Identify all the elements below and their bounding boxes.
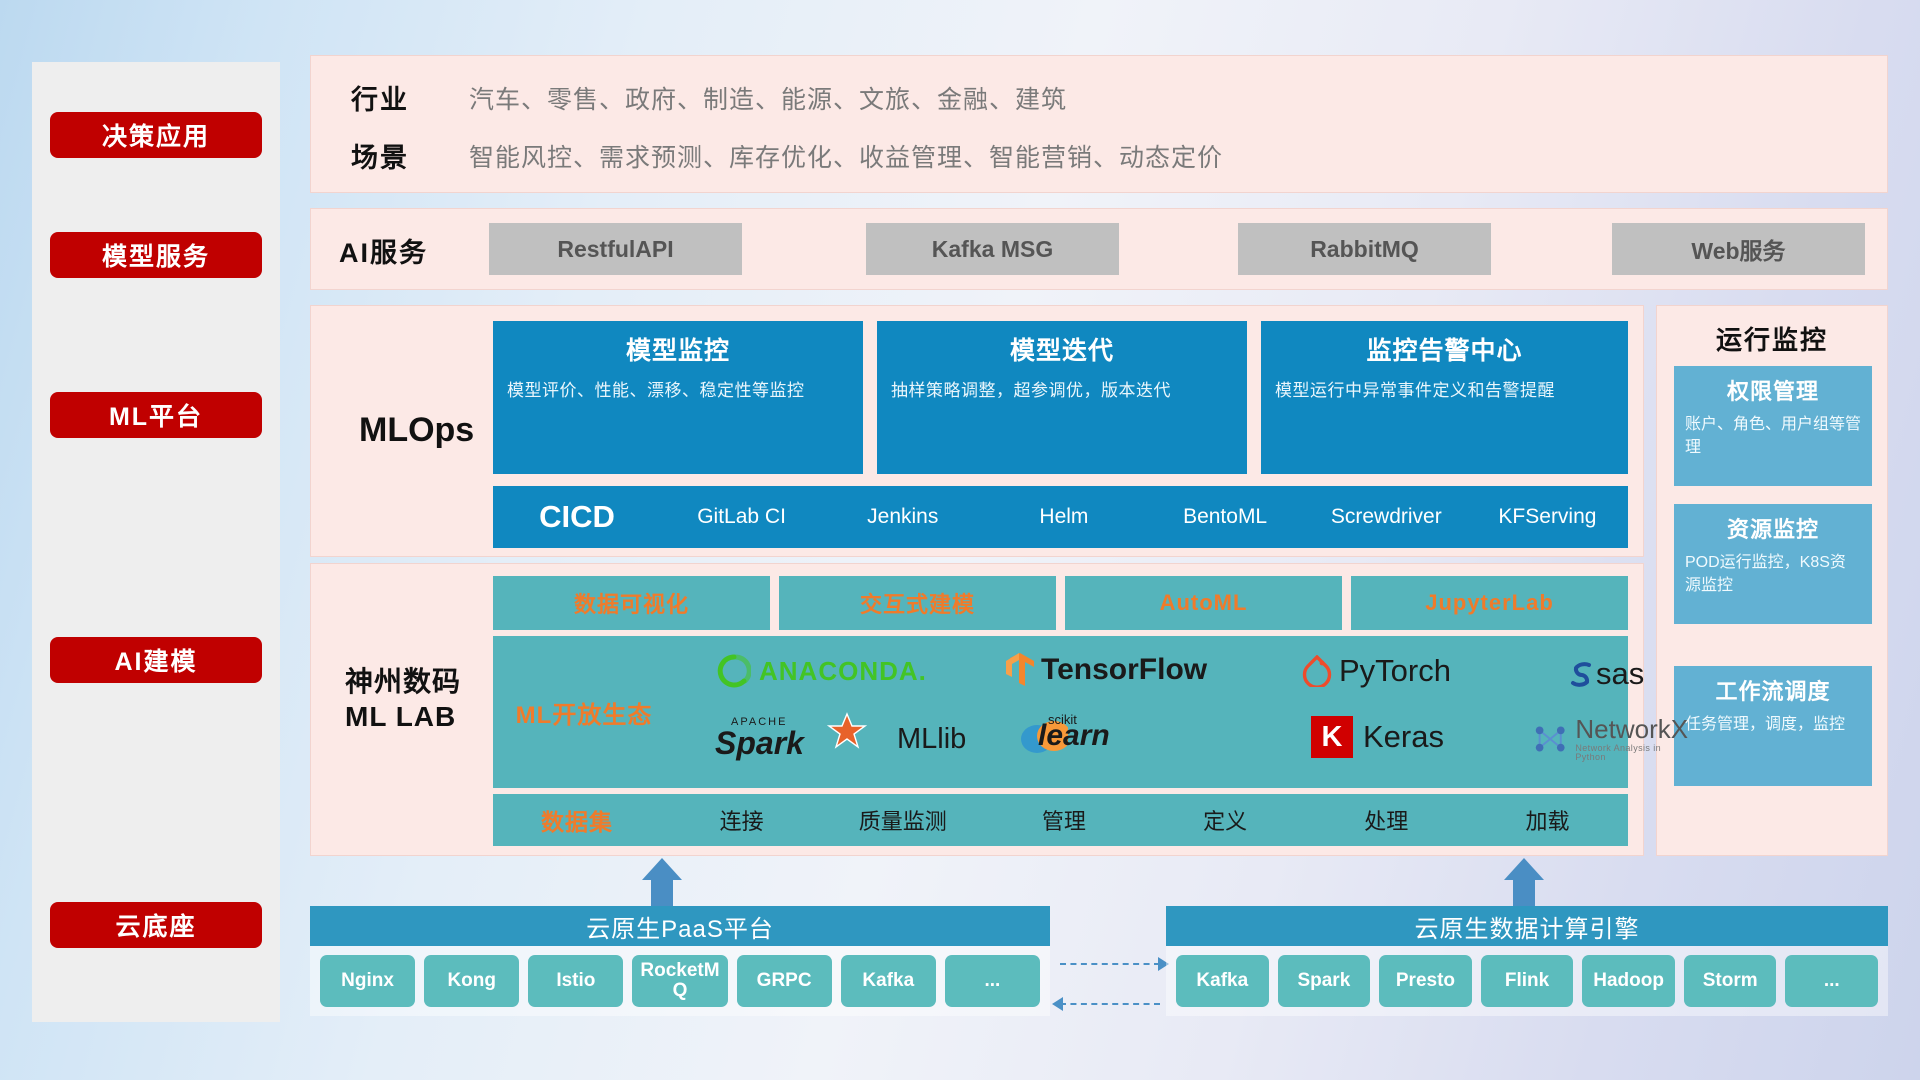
spark-star-icon	[827, 712, 867, 752]
tensorflow-logo: TensorFlow	[1005, 652, 1207, 688]
monitor-card-desc: 任务管理，调度，监控	[1685, 713, 1861, 736]
spark-mllib-logo: APACHE Spark MLlib	[715, 714, 966, 764]
ml-open-ecosystem-box: ML开放生态 ANACONDA. TensorFlow	[493, 636, 1628, 788]
ml-lab-label-line1: 神州数码	[345, 664, 461, 699]
monitor-card-resource[interactable]: 资源监控 POD运行监控，K8S资源监控	[1674, 504, 1872, 624]
monitor-card-workflow[interactable]: 工作流调度 任务管理，调度，监控	[1674, 666, 1872, 786]
mlops-card-desc: 抽样策略调整，超参调优，版本迭代	[891, 379, 1233, 404]
paas-platform-group: 云原生PaaS平台 Nginx Kong Istio RocketMQ GRPC…	[310, 906, 1050, 1016]
paas-chip-kong[interactable]: Kong	[424, 955, 519, 1007]
ml-lab-label-line2: ML LAB	[345, 699, 461, 734]
cicd-item-jenkins[interactable]: Jenkins	[822, 506, 983, 528]
dataset-item-quality[interactable]: 质量监测	[822, 804, 983, 836]
cicd-item-helm[interactable]: Helm	[983, 506, 1144, 528]
spark-logo: APACHE Spark	[715, 714, 887, 764]
run-monitoring-title: 运行监控	[1657, 320, 1887, 357]
mlops-card-title: 模型监控	[507, 331, 849, 367]
cicd-title: CICD	[493, 499, 661, 535]
tab-interactive-modeling[interactable]: 交互式建模	[779, 576, 1056, 630]
industry-value: 汽车、零售、政府、制造、能源、文旅、金融、建筑	[469, 80, 1067, 116]
monitor-card-permission[interactable]: 权限管理 账户、角色、用户组等管理	[1674, 366, 1872, 486]
scenario-row: 场景 智能风控、需求预测、库存优化、收益管理、智能营销、动态定价	[351, 136, 1223, 175]
cicd-bar: CICD GitLab CI Jenkins Helm BentoML Scre…	[493, 486, 1628, 548]
ai-chip-kafka-msg[interactable]: Kafka MSG	[866, 223, 1119, 275]
networkx-icon	[1530, 718, 1570, 760]
compute-chip-storm[interactable]: Storm	[1684, 955, 1777, 1007]
run-monitoring-panel: 运行监控 权限管理 账户、角色、用户组等管理 资源监控 POD运行监控，K8S资…	[1656, 305, 1888, 856]
monitor-card-desc: POD运行监控，K8S资源监控	[1685, 551, 1861, 597]
paas-chip-more[interactable]: ...	[945, 955, 1040, 1007]
sas-icon	[1565, 659, 1595, 689]
scenario-label: 场景	[351, 136, 469, 175]
mlops-card-title: 监控告警中心	[1275, 331, 1614, 367]
scikit-learn-wordmark: scikit learn	[1038, 719, 1110, 753]
tensorflow-wordmark: TensorFlow	[1041, 653, 1207, 687]
rail-item-decision-apps[interactable]: 决策应用	[50, 112, 262, 158]
mlops-card-desc: 模型评价、性能、漂移、稳定性等监控	[507, 379, 849, 404]
paas-chip-rocketmq[interactable]: RocketMQ	[632, 955, 727, 1007]
rail-item-ml-platform[interactable]: ML平台	[50, 392, 262, 438]
dataset-item-load[interactable]: 加载	[1467, 804, 1628, 836]
monitor-card-desc: 账户、角色、用户组等管理	[1685, 413, 1861, 459]
scenario-value: 智能风控、需求预测、库存优化、收益管理、智能营销、动态定价	[469, 138, 1223, 174]
industry-row: 行业 汽车、零售、政府、制造、能源、文旅、金融、建筑	[351, 78, 1067, 117]
compute-chip-kafka[interactable]: Kafka	[1176, 955, 1269, 1007]
spark-wordmark: Spark	[715, 725, 804, 762]
tab-jupyterlab[interactable]: JupyterLab	[1351, 576, 1628, 630]
monitor-card-title: 工作流调度	[1685, 674, 1861, 706]
cicd-item-kfserving[interactable]: KFServing	[1467, 506, 1628, 528]
paas-platform-title: 云原生PaaS平台	[310, 906, 1050, 946]
mlops-card-alert-center[interactable]: 监控告警中心 模型运行中异常事件定义和告警提醒	[1261, 321, 1628, 474]
networkx-logo: NetworkX Network Analysis in Python	[1530, 716, 1690, 762]
dataset-bar: 数据集 连接 质量监测 管理 定义 处理 加载	[493, 794, 1628, 846]
layer-label-rail: 决策应用 模型服务 ML平台 AI建模 云底座	[32, 62, 280, 1022]
ai-chip-restfulapi[interactable]: RestfulAPI	[489, 223, 742, 275]
ml-lab-label: 神州数码 ML LAB	[345, 664, 461, 734]
scikit-tag: scikit	[1048, 712, 1077, 727]
mlops-band: MLOps 模型监控 模型评价、性能、漂移、稳定性等监控 模型迭代 抽样策略调整…	[310, 305, 1644, 557]
dataset-item-define[interactable]: 定义	[1145, 804, 1306, 836]
tensorflow-icon	[1005, 652, 1035, 688]
sas-wordmark: sas	[1596, 656, 1644, 692]
tab-automl[interactable]: AutoML	[1065, 576, 1342, 630]
networkx-wordmark: NetworkX	[1575, 716, 1689, 742]
networkx-subtitle: Network Analysis in Python	[1575, 744, 1689, 762]
compute-chip-more[interactable]: ...	[1785, 955, 1878, 1007]
dataset-title: 数据集	[493, 803, 661, 837]
decision-apps-band: 行业 汽车、零售、政府、制造、能源、文旅、金融、建筑 场景 智能风控、需求预测、…	[310, 55, 1888, 193]
ecosystem-logo-area: ANACONDA. TensorFlow PyTorch	[675, 636, 1628, 788]
industry-label: 行业	[351, 78, 469, 117]
cicd-item-screwdriver[interactable]: Screwdriver	[1306, 506, 1467, 528]
ai-service-band: AI服务 RestfulAPI Kafka MSG RabbitMQ Web服务	[310, 208, 1888, 290]
ai-service-label: AI服务	[339, 231, 428, 270]
compute-chip-row: Kafka Spark Presto Flink Hadoop Storm ..…	[1166, 946, 1888, 1016]
paas-chip-istio[interactable]: Istio	[528, 955, 623, 1007]
dataset-item-connect[interactable]: 连接	[661, 804, 822, 836]
paas-chip-grpc[interactable]: GRPC	[737, 955, 832, 1007]
mllib-wordmark: MLlib	[897, 723, 966, 756]
compute-engine-title: 云原生数据计算引擎	[1166, 906, 1888, 946]
anaconda-logo: ANACONDA.	[717, 654, 927, 688]
keras-mark-letter: K	[1322, 721, 1343, 754]
monitor-card-title: 权限管理	[1685, 374, 1861, 406]
keras-wordmark: Keras	[1363, 719, 1444, 755]
mlops-card-model-monitoring[interactable]: 模型监控 模型评价、性能、漂移、稳定性等监控	[493, 321, 863, 474]
pytorch-icon	[1302, 655, 1332, 687]
anaconda-icon	[717, 654, 751, 688]
paas-chip-kafka[interactable]: Kafka	[841, 955, 936, 1007]
paas-chip-nginx[interactable]: Nginx	[320, 955, 415, 1007]
rail-item-cloud-base[interactable]: 云底座	[50, 902, 262, 948]
anaconda-wordmark: ANACONDA.	[759, 656, 927, 687]
compute-chip-hadoop[interactable]: Hadoop	[1582, 955, 1675, 1007]
ai-chip-web-service[interactable]: Web服务	[1612, 223, 1865, 275]
compute-engine-group: 云原生数据计算引擎 Kafka Spark Presto Flink Hadoo…	[1166, 906, 1888, 1016]
tab-data-visualization[interactable]: 数据可视化	[493, 576, 770, 630]
keras-mark-icon: K	[1311, 716, 1353, 758]
keras-logo: K Keras	[1311, 716, 1444, 758]
monitor-card-title: 资源监控	[1685, 512, 1861, 544]
mlops-card-model-iteration[interactable]: 模型迭代 抽样策略调整，超参调优，版本迭代	[877, 321, 1247, 474]
architecture-diagram: 决策应用 模型服务 ML平台 AI建模 云底座 行业 汽车、零售、政府、制造、能…	[0, 0, 1920, 1080]
ml-open-ecosystem-label: ML开放生态	[493, 695, 675, 730]
rail-item-model-service[interactable]: 模型服务	[50, 232, 262, 278]
dataset-item-process[interactable]: 处理	[1306, 804, 1467, 836]
mlops-card-title: 模型迭代	[891, 331, 1233, 367]
paas-chip-row: Nginx Kong Istio RocketMQ GRPC Kafka ...	[310, 946, 1050, 1016]
pytorch-logo: PyTorch	[1302, 653, 1451, 689]
compute-chip-presto[interactable]: Presto	[1379, 955, 1472, 1007]
mlops-card-desc: 模型运行中异常事件定义和告警提醒	[1275, 379, 1614, 404]
compute-chip-flink[interactable]: Flink	[1481, 955, 1574, 1007]
ai-chip-rabbitmq[interactable]: RabbitMQ	[1238, 223, 1491, 275]
pytorch-wordmark: PyTorch	[1339, 653, 1451, 689]
cicd-item-gitlab-ci[interactable]: GitLab CI	[661, 506, 822, 528]
rail-item-ai-modeling[interactable]: AI建模	[50, 637, 262, 683]
mlops-label: MLOps	[359, 411, 474, 450]
dataset-item-manage[interactable]: 管理	[983, 804, 1144, 836]
ml-lab-band: 神州数码 ML LAB 数据可视化 交互式建模 AutoML JupyterLa…	[310, 563, 1644, 856]
sas-logo: sas	[1565, 656, 1644, 692]
ml-lab-tabs: 数据可视化 交互式建模 AutoML JupyterLab	[493, 576, 1628, 630]
compute-chip-spark[interactable]: Spark	[1278, 955, 1371, 1007]
scikit-learn-logo: scikit learn	[1020, 714, 1110, 758]
cicd-item-bentoml[interactable]: BentoML	[1145, 506, 1306, 528]
networkx-wordmark-block: NetworkX Network Analysis in Python	[1575, 716, 1689, 762]
